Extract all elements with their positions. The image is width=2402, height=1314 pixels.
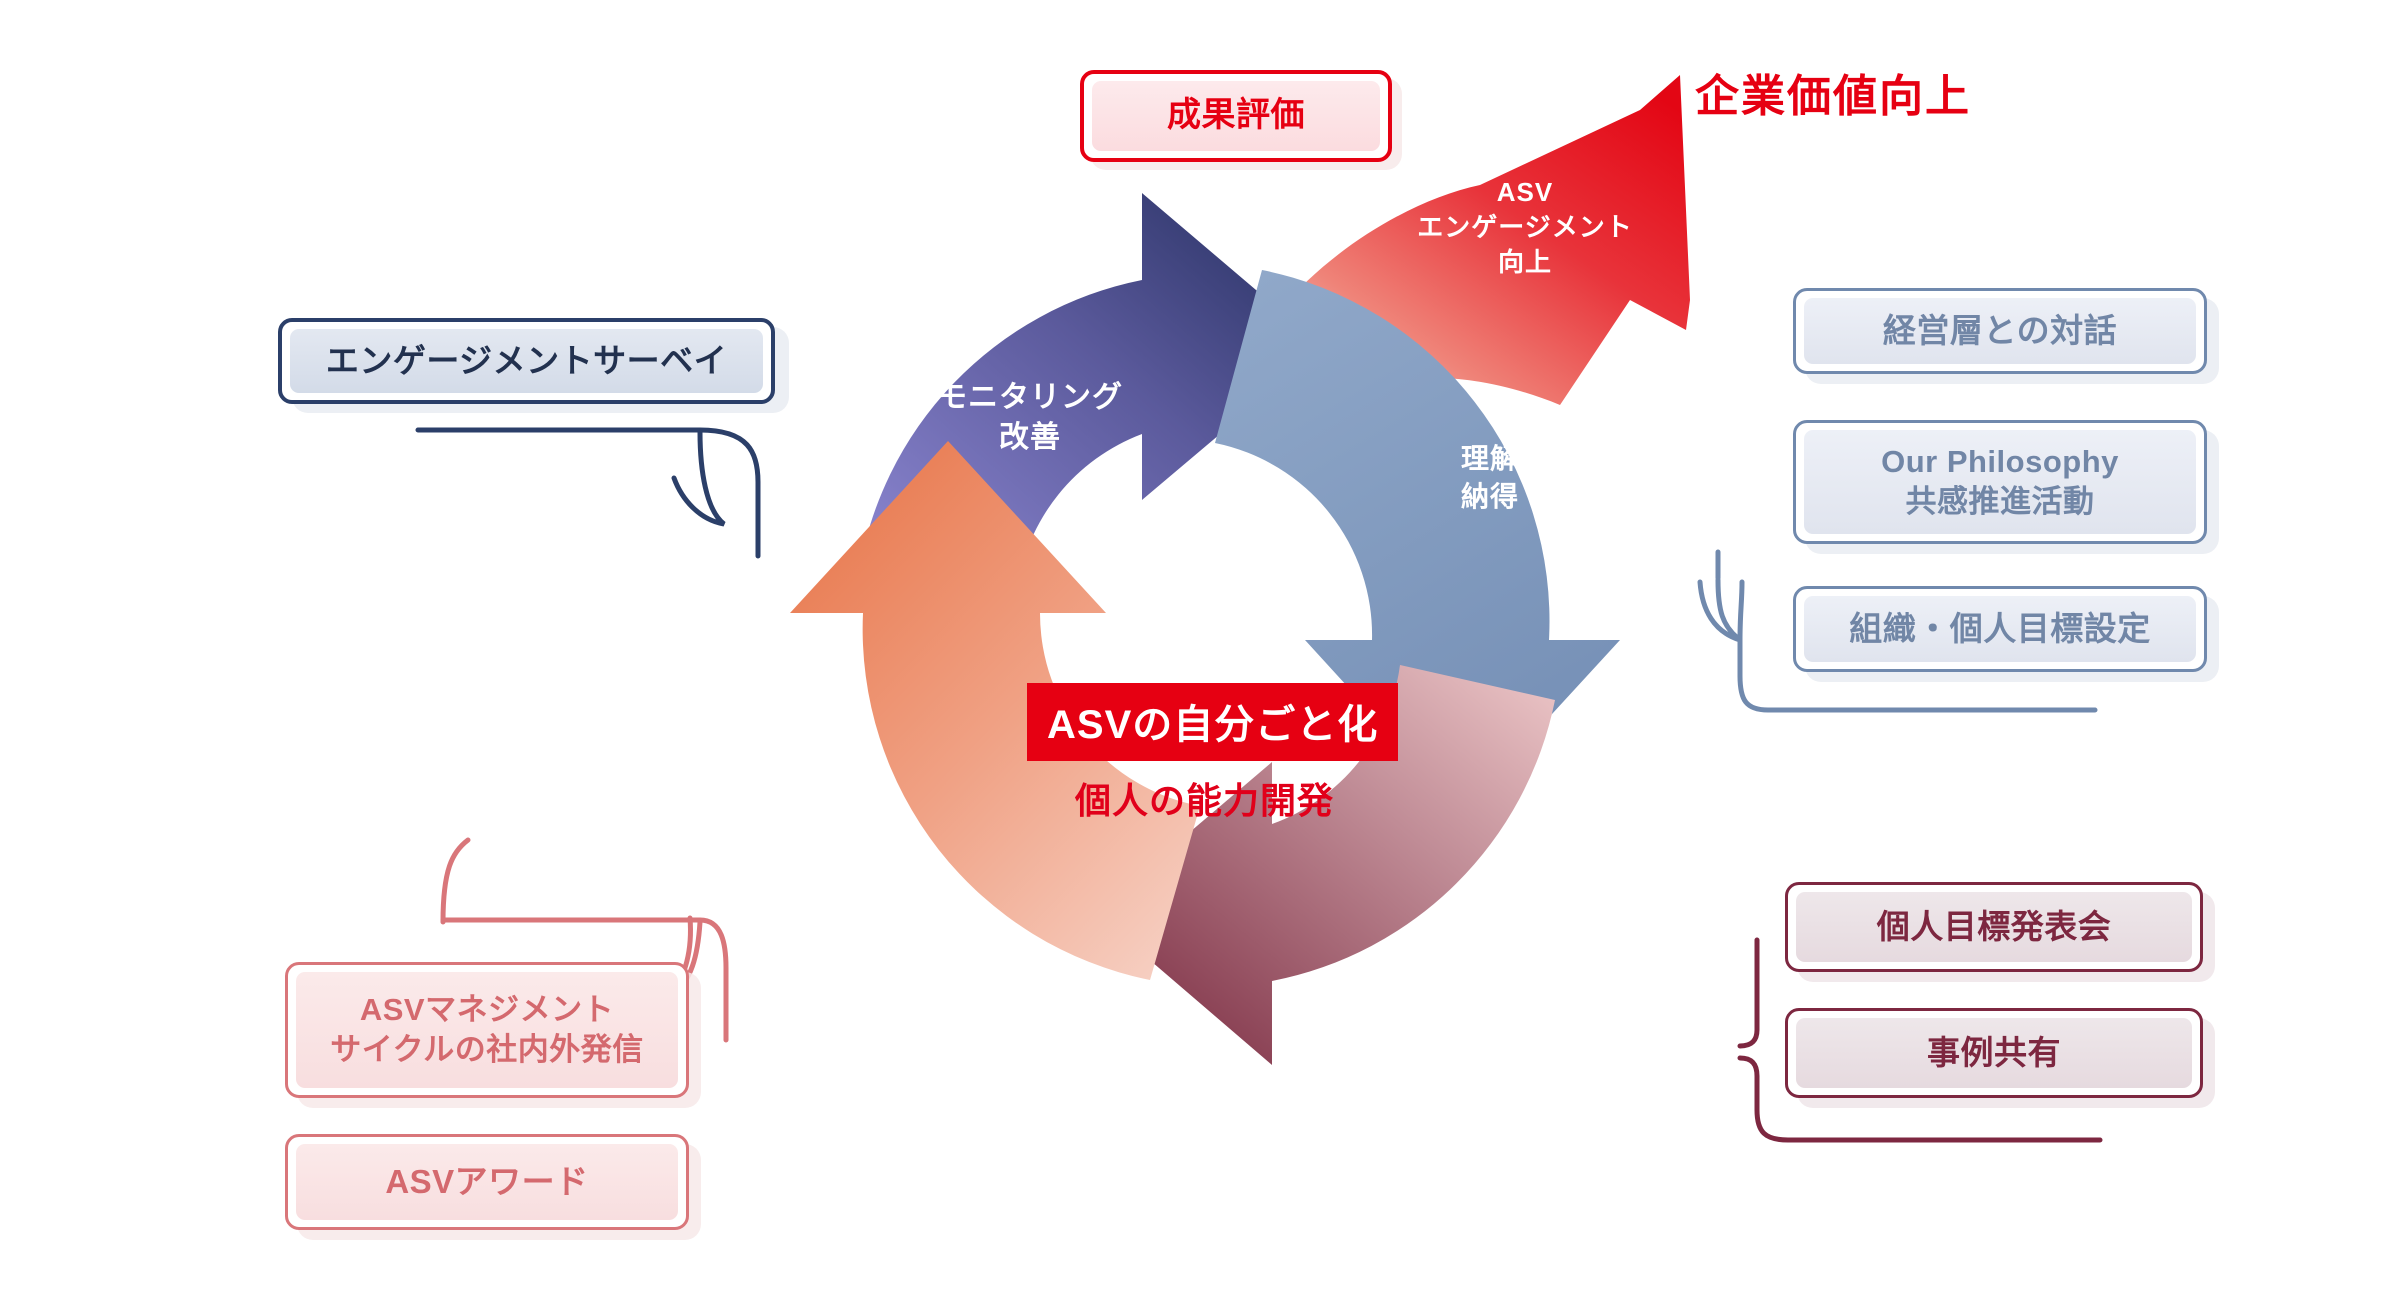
callout-goal-setting[interactable]: 組織・個人目標設定 xyxy=(1793,586,2207,672)
callout-label: Our Philosophy 共感推進活動 xyxy=(1881,442,2119,521)
callout-personal-goal-presentation[interactable]: 個人目標発表会 xyxy=(1785,882,2203,972)
page-title: 企業価値向上 xyxy=(1695,60,1971,124)
callout-label: 事例共有 xyxy=(1927,1032,2061,1074)
ring-label-execution: 実行 実現プロセス xyxy=(790,880,1050,955)
callout-asv-award[interactable]: ASVアワード xyxy=(285,1134,689,1230)
ring-label-understanding: 理解 納得 xyxy=(1405,440,1575,515)
callout-label: 組織・個人目標設定 xyxy=(1849,608,2151,650)
callout-seika-hyouka[interactable]: 成果評価 xyxy=(1080,70,1392,162)
center-subtitle: 個人の能力開発 xyxy=(1075,772,1334,824)
ring-label-monitoring: モニタリング 改善 xyxy=(900,378,1160,458)
callout-case-sharing[interactable]: 事例共有 xyxy=(1785,1008,2203,1098)
callout-pointer-engagement-survey xyxy=(418,430,758,556)
callout-label: ASVマネジメント サイクルの社内外発信 xyxy=(330,990,643,1069)
callout-label: 成果評価 xyxy=(1167,94,1305,138)
callout-asv-management-cycle[interactable]: ASVマネジメント サイクルの社内外発信 xyxy=(285,962,689,1098)
ring-label-asv-engagement: ASV エンゲージメント 向上 xyxy=(1400,175,1650,279)
callout-engagement-survey[interactable]: エンゲージメントサーベイ xyxy=(278,318,775,404)
callout-label: 経営層との対話 xyxy=(1883,310,2117,352)
callout-label: 個人目標発表会 xyxy=(1877,906,2112,948)
ring-label-empathy: 共感 共鳴 xyxy=(1355,975,1525,1050)
callout-label: ASVアワード xyxy=(385,1161,588,1203)
center-chip: ASVの自分ごと化 xyxy=(1027,683,1398,761)
diagram-canvas: 企業価値向上 モニタリング 改善 理解 納得 共感 共鳴 実行 実現プロセス A… xyxy=(0,0,2402,1314)
callout-our-philosophy[interactable]: Our Philosophy 共感推進活動 xyxy=(1793,420,2207,544)
callout-label: エンゲージメントサーベイ xyxy=(326,340,727,382)
callout-dialogue-with-management[interactable]: 経営層との対話 xyxy=(1793,288,2207,374)
